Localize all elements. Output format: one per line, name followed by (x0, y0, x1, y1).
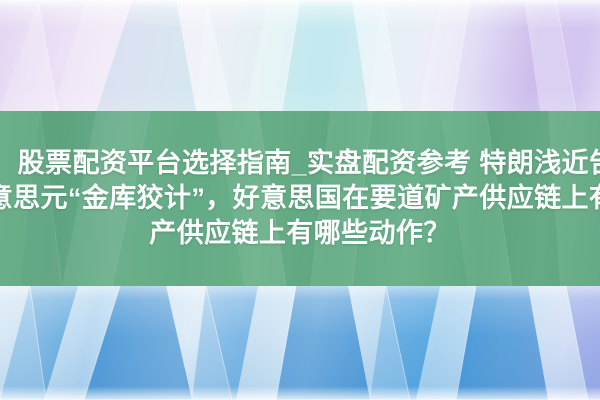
headline-line-1: 股票配资平台选择指南_实盘配资参考 特朗浅近告 (18, 146, 600, 181)
headline-block: 股票配资平台选择指南_实盘配资参考 特朗浅近告 意思元“金库狡计”，好意思国在要… (0, 111, 600, 286)
bottom-band-sheen (0, 286, 600, 400)
banner-image: 股票配资平台选择指南_实盘配资参考 特朗浅近告 意思元“金库狡计”，好意思国在要… (0, 0, 600, 400)
headline-line-3: 产供应链上有哪些动作？ (149, 216, 450, 251)
headline-line-2: 意思元“金库狡计”，好意思国在要道矿产供应链上有 (0, 181, 600, 216)
bottom-gradient-band (0, 286, 600, 400)
top-gradient-band (0, 0, 600, 111)
top-band-sheen (0, 0, 600, 111)
